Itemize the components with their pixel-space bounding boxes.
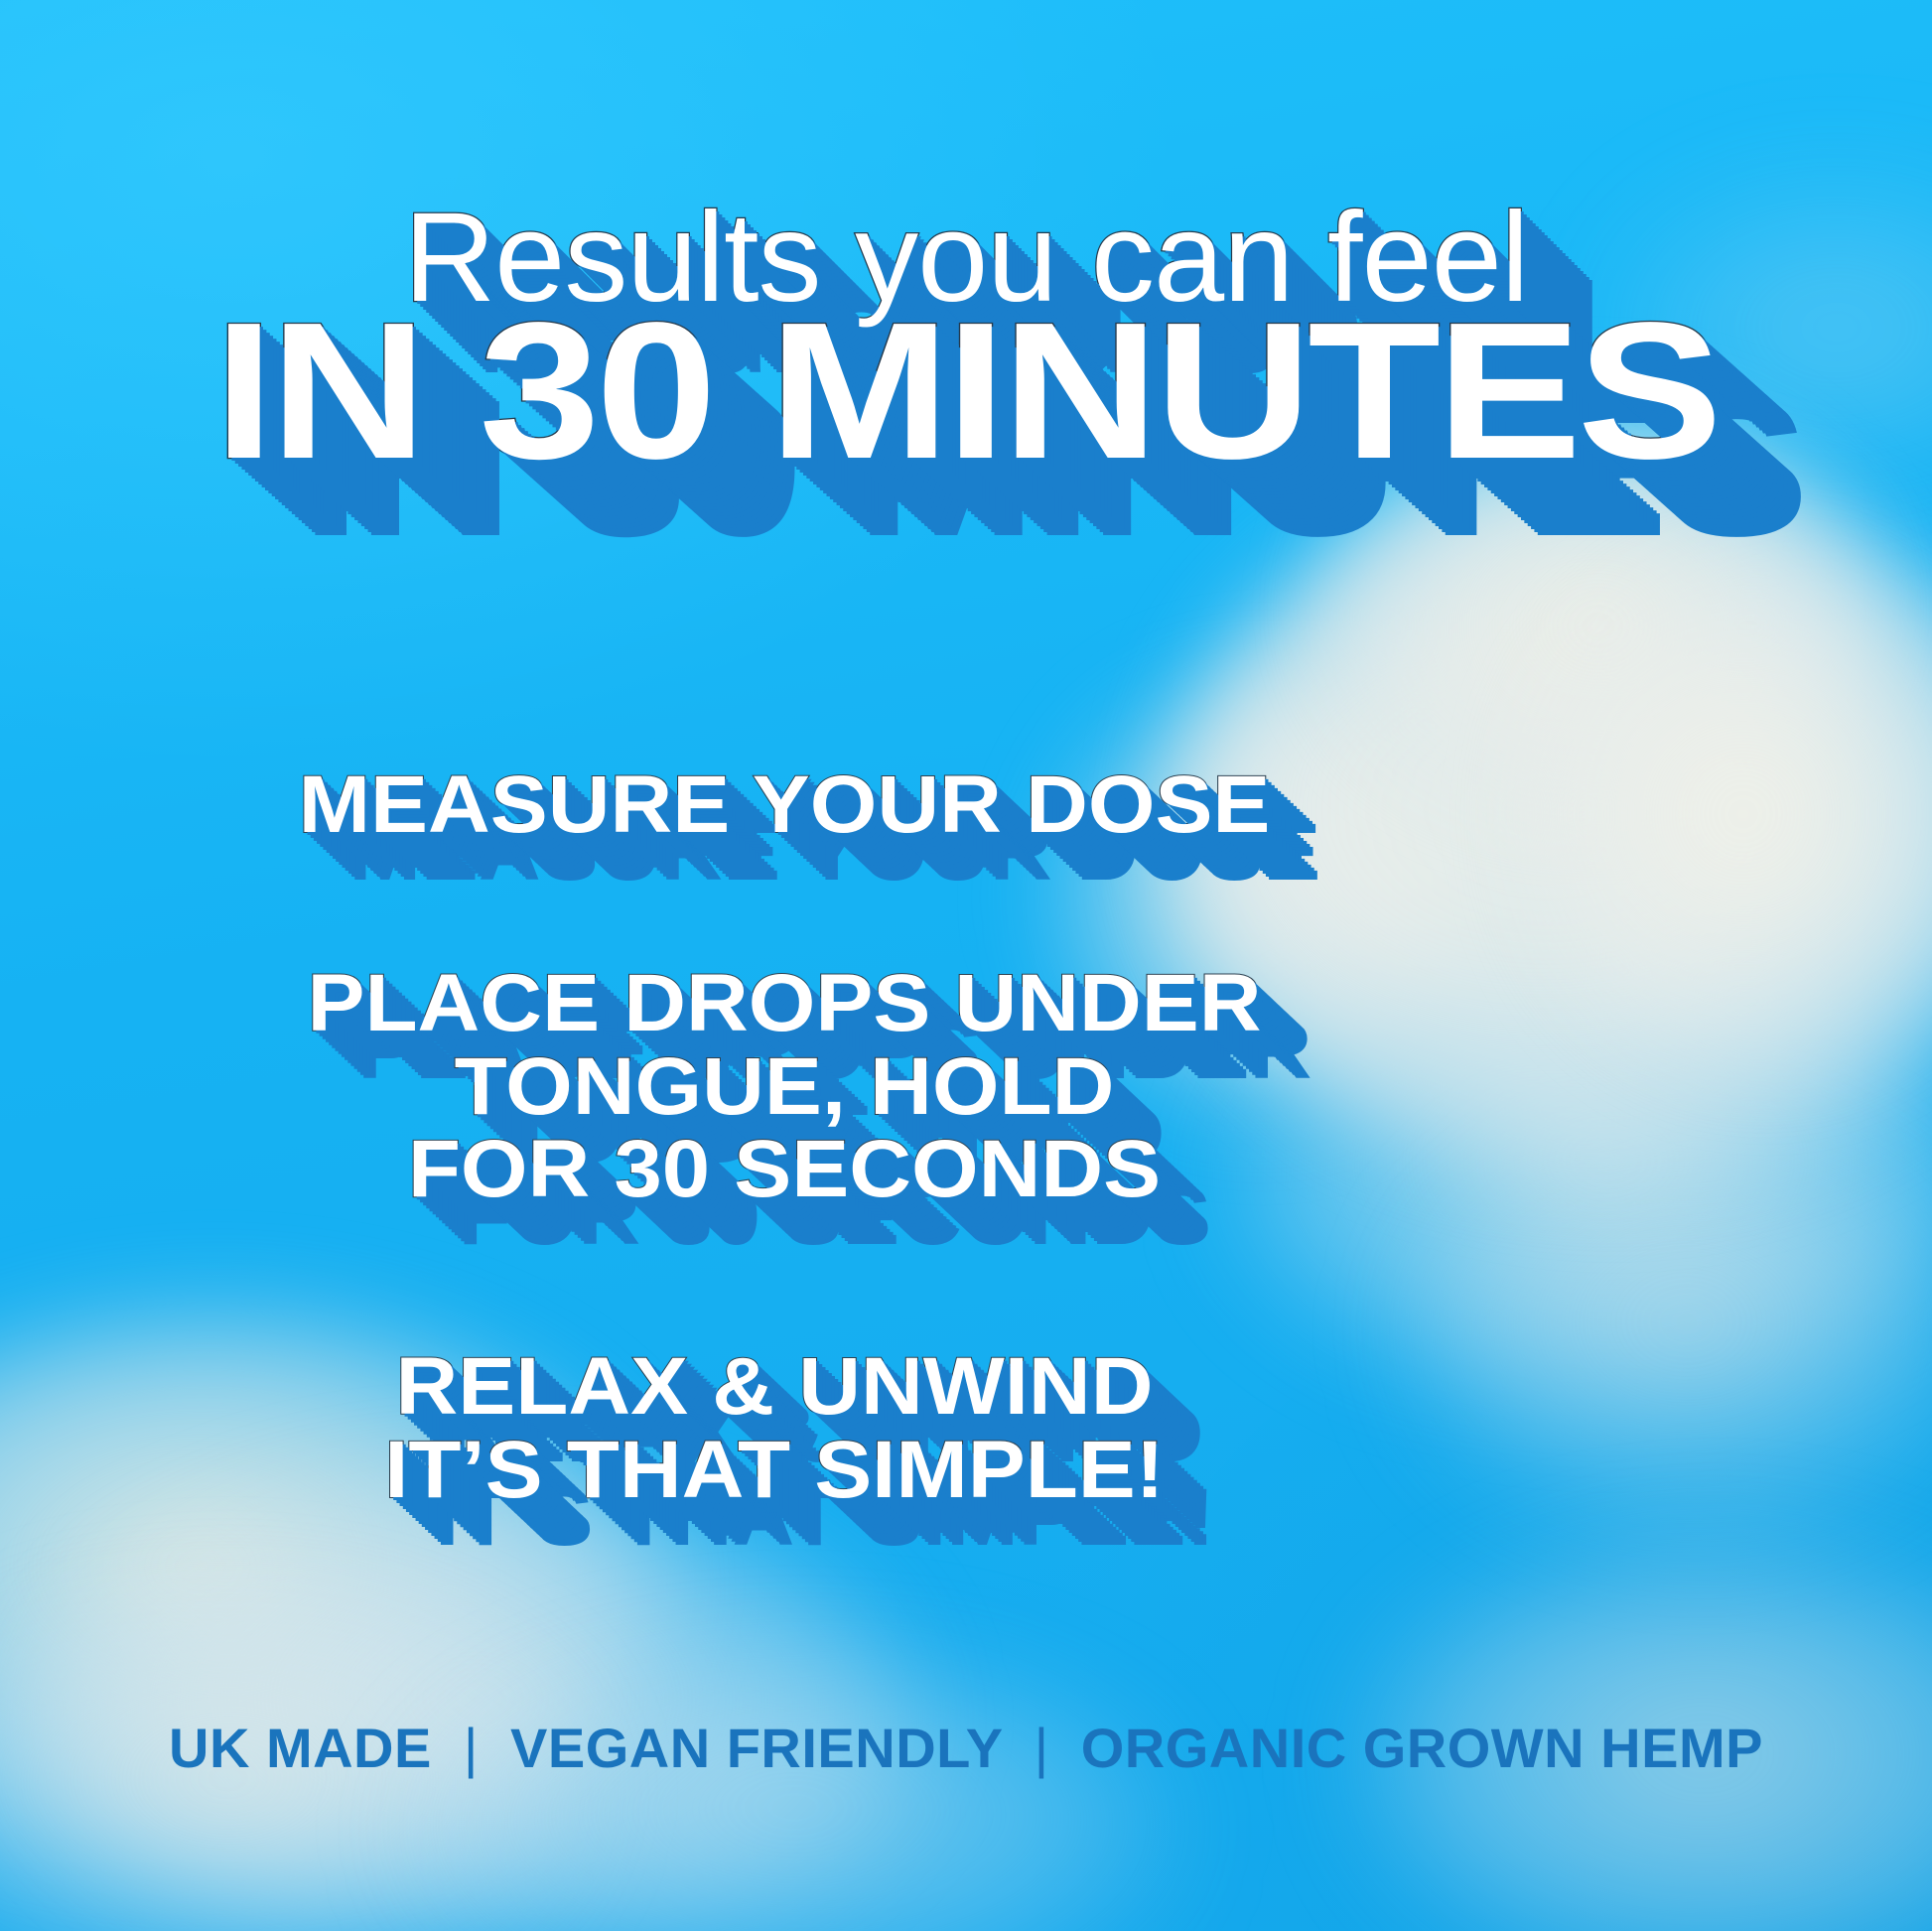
badge-vegan-friendly: VEGAN FRIENDLY <box>510 1717 1003 1779</box>
step-relax-unwind: RELAX & UNWIND IT’S THAT SIMPLE! <box>0 1345 1595 1511</box>
step-line: MEASURE YOUR DOSE <box>0 763 1615 847</box>
step-line: IT’S THAT SIMPLE! <box>0 1429 1595 1512</box>
badge-uk-made: UK MADE <box>169 1717 432 1779</box>
footer-badges: UK MADE | VEGAN FRIENDLY | ORGANIC GROWN… <box>0 1716 1932 1780</box>
step-line: RELAX & UNWIND <box>0 1345 1595 1429</box>
headline-emphasis-line: IN 30 MINUTES <box>0 296 1932 486</box>
poster-content: Results you can feel IN 30 MINUTES MEASU… <box>0 0 1932 1931</box>
badge-separator: | <box>1019 1716 1065 1780</box>
step-measure-dose: MEASURE YOUR DOSE <box>0 763 1615 847</box>
promo-poster: Results you can feel IN 30 MINUTES MEASU… <box>0 0 1932 1931</box>
step-line: FOR 30 SECONDS <box>0 1128 1615 1211</box>
step-place-drops: PLACE DROPS UNDER TONGUE, HOLD FOR 30 SE… <box>0 962 1615 1211</box>
badge-organic-grown-hemp: ORGANIC GROWN HEMP <box>1081 1717 1763 1779</box>
step-line: TONGUE, HOLD <box>0 1045 1615 1129</box>
badge-separator: | <box>448 1716 494 1780</box>
step-line: PLACE DROPS UNDER <box>0 962 1615 1045</box>
